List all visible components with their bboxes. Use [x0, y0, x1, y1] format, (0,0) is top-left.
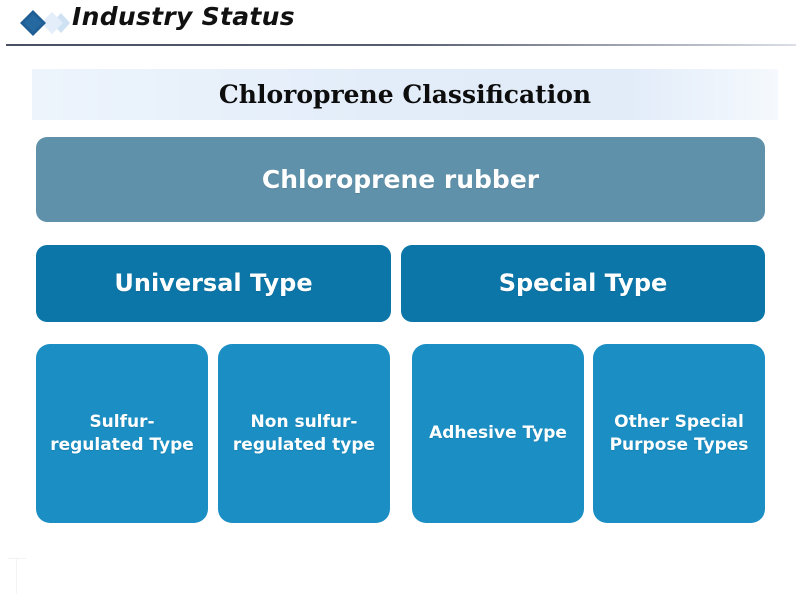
node-sulfur-regulated-type-label: Sulfur-regulated Type	[46, 411, 198, 456]
node-root-chloroprene-rubber[interactable]: Chloroprene rubber	[36, 137, 765, 222]
page-title: Industry Status	[72, 2, 295, 31]
header-divider	[6, 44, 796, 46]
node-universal-type[interactable]: Universal Type	[36, 245, 391, 322]
node-special-type-label: Special Type	[499, 268, 668, 300]
page-artifact	[8, 558, 26, 594]
node-other-special-purpose-types-label: Other Special Purpose Types	[603, 411, 755, 456]
node-special-type[interactable]: Special Type	[401, 245, 765, 322]
chart-title: Chloroprene Classification	[219, 80, 591, 109]
slide-header: Industry Status	[0, 0, 800, 46]
node-non-sulfur-regulated-type-label: Non sulfur-regulated type	[228, 411, 380, 456]
node-adhesive-type[interactable]: Adhesive Type	[412, 344, 584, 523]
chart-title-banner: Chloroprene Classification	[32, 69, 778, 120]
node-non-sulfur-regulated-type[interactable]: Non sulfur-regulated type	[218, 344, 390, 523]
node-other-special-purpose-types[interactable]: Other Special Purpose Types	[593, 344, 765, 523]
node-universal-type-label: Universal Type	[114, 268, 312, 300]
diamond-bullet-icon	[18, 8, 72, 38]
node-adhesive-type-label: Adhesive Type	[429, 422, 567, 444]
node-sulfur-regulated-type[interactable]: Sulfur-regulated Type	[36, 344, 208, 523]
node-root-label: Chloroprene rubber	[262, 163, 539, 196]
